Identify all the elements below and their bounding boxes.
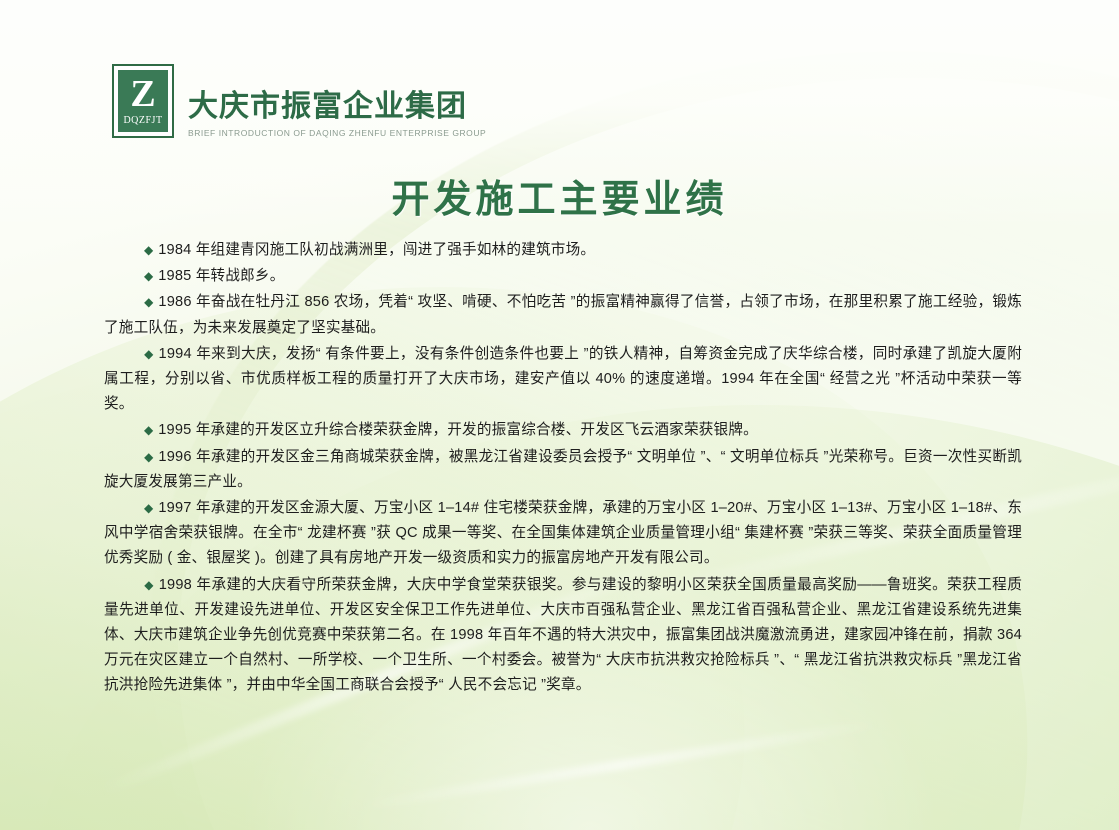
paragraph: ◆1996 年承建的开发区金三角商城荣获金牌，被黑龙江省建设委员会授予“ 文明单… bbox=[104, 445, 1022, 495]
bullet-diamond-icon: ◆ bbox=[144, 295, 153, 309]
paragraph: ◆1998 年承建的大庆看守所荣获金牌，大庆中学食堂荣获银奖。参与建设的黎明小区… bbox=[104, 573, 1022, 699]
body-content: ◆1984 年组建青冈施工队初战满洲里，闯进了强手如林的建筑市场。 ◆1985 … bbox=[104, 238, 1022, 700]
bullet-diamond-icon: ◆ bbox=[144, 243, 153, 257]
decorative-streak-b bbox=[362, 719, 877, 810]
paragraph-text: 1994 年来到大庆，发扬“ 有条件要上，没有条件创造条件也要上 ”的铁人精神，… bbox=[104, 346, 1022, 412]
bullet-diamond-icon: ◆ bbox=[144, 269, 153, 283]
paragraph: ◆1985 年转战郎乡。 bbox=[104, 264, 1022, 289]
bullet-diamond-icon: ◆ bbox=[144, 501, 153, 515]
paragraph-text: 1985 年转战郎乡。 bbox=[158, 268, 284, 284]
logo-abbreviation: DQZFJT bbox=[123, 115, 162, 127]
paragraph-text: 1984 年组建青冈施工队初战满洲里，闯进了强手如林的建筑市场。 bbox=[158, 242, 595, 258]
paragraph-text: 1995 年承建的开发区立升综合楼荣获金牌，开发的振富综合楼、开发区飞云酒家荣获… bbox=[158, 422, 758, 438]
paragraph: ◆1995 年承建的开发区立升综合楼荣获金牌，开发的振富综合楼、开发区飞云酒家荣… bbox=[104, 418, 1022, 443]
paragraph: ◆1997 年承建的开发区金源大厦、万宝小区 1–14# 住宅楼荣获金牌，承建的… bbox=[104, 496, 1022, 572]
logo-letter: Z bbox=[130, 74, 155, 114]
bullet-diamond-icon: ◆ bbox=[144, 578, 154, 592]
paragraph-text: 1996 年承建的开发区金三角商城荣获金牌，被黑龙江省建设委员会授予“ 文明单位… bbox=[104, 449, 1022, 490]
paragraph-text: 1986 年奋战在牡丹江 856 农场，凭着“ 攻坚、啃硬、不怕吃苦 ”的振富精… bbox=[104, 294, 1022, 335]
brochure-page: Z DQZFJT 大庆市振富企业集团 BRIEF INTRODUCTION OF… bbox=[0, 0, 1119, 830]
brand-wordmark: 大庆市振富企业集团 BRIEF INTRODUCTION OF DAQING Z… bbox=[188, 64, 486, 139]
paragraph-text: 1997 年承建的开发区金源大厦、万宝小区 1–14# 住宅楼荣获金牌，承建的万… bbox=[104, 500, 1022, 566]
company-logo-icon: Z DQZFJT bbox=[112, 64, 174, 138]
paragraph-text: 1998 年承建的大庆看守所荣获金牌，大庆中学食堂荣获银奖。参与建设的黎明小区荣… bbox=[104, 577, 1022, 694]
page-title: 开发施工主要业绩 bbox=[0, 168, 1119, 223]
company-name-en: BRIEF INTRODUCTION OF DAQING ZHENFU ENTE… bbox=[188, 127, 486, 139]
brand-header: Z DQZFJT 大庆市振富企业集团 BRIEF INTRODUCTION OF… bbox=[112, 64, 486, 139]
paragraph: ◆1984 年组建青冈施工队初战满洲里，闯进了强手如林的建筑市场。 bbox=[104, 238, 1022, 263]
company-name-cn: 大庆市振富企业集团 bbox=[188, 90, 486, 124]
bullet-diamond-icon: ◆ bbox=[144, 347, 154, 361]
bullet-diamond-icon: ◆ bbox=[144, 450, 153, 464]
paragraph: ◆1994 年来到大庆，发扬“ 有条件要上，没有条件创造条件也要上 ”的铁人精神… bbox=[104, 342, 1022, 418]
bullet-diamond-icon: ◆ bbox=[144, 423, 153, 437]
paragraph: ◆1986 年奋战在牡丹江 856 农场，凭着“ 攻坚、啃硬、不怕吃苦 ”的振富… bbox=[104, 290, 1022, 340]
